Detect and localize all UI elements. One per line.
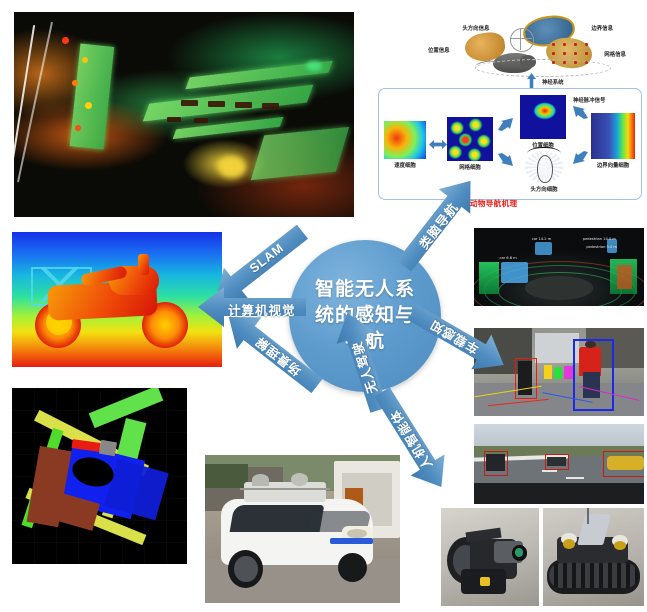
- road-detection-content: [474, 424, 644, 504]
- rat-label-grid: 网格信息: [604, 50, 626, 58]
- head-direction-cell-label: 头方向细胞: [519, 185, 569, 193]
- boundary-vector-cell-image: [591, 113, 635, 159]
- lidar-detection-view: car 14.2 m car 6.8 m pedestrian 14.0 m p…: [474, 228, 644, 306]
- rat-label-place: 位置信息: [428, 46, 450, 54]
- rat-label-boundary: 边界信息: [591, 24, 613, 32]
- navigation-cell-panel: 速度细胞 网格细胞 位置细胞 头方向细胞 边界向量细胞: [378, 88, 642, 200]
- speed-cell-image: [384, 121, 426, 159]
- tracked-robot-platform: [543, 508, 644, 606]
- scene3d-content: [12, 388, 187, 564]
- head-direction-arc: [527, 147, 561, 160]
- rat-ground: [475, 59, 610, 77]
- place-cell-image: [520, 95, 566, 139]
- grid-cell-image: [447, 117, 493, 161]
- grid-to-head-direction-arrow-icon: [497, 153, 515, 172]
- grid-to-place-arrow-icon: [497, 117, 515, 136]
- tracked-robot-content: [543, 508, 644, 606]
- lidar-label-pedestrian-2: pedestrian 9.0 m: [586, 245, 617, 249]
- lidar-point-cloud-map: [14, 12, 354, 217]
- wheeled-robot-content: [441, 508, 539, 606]
- rat-brain-diagram: 头方向信息 边界信息 位置信息 网格信息 神经系统: [428, 6, 643, 90]
- road-vehicle-detection-view: [474, 424, 644, 504]
- semantic-3d-scene: [12, 388, 187, 564]
- compass-cross: [510, 28, 532, 50]
- lidar-label-car-2: car 6.8 m: [500, 256, 517, 260]
- rat-label-nervous-system: 神经系统: [542, 78, 564, 86]
- autonomous-vehicle-content: [205, 455, 400, 603]
- lidar-label-car-1: car 14.2 m: [532, 237, 551, 241]
- figure-canvas: 头方向信息 边界信息 位置信息 网格信息 神经系统 速度细胞 网格细胞 位置细胞: [0, 0, 647, 612]
- speed-cell-label: 速度细胞: [384, 161, 426, 169]
- spike-signal-label: 神经脉冲信号: [573, 96, 635, 104]
- boundary-vector-cell-label: 边界向量细胞: [585, 161, 641, 169]
- lidar-detection-content: car 14.2 m car 6.8 m pedestrian 14.0 m p…: [474, 228, 644, 306]
- speed-to-grid-arrow-icon: [429, 136, 447, 154]
- depth-map-motorcycle: [12, 232, 222, 367]
- lidar-map-content: [14, 12, 354, 217]
- place-to-boundary-arrow-icon: [571, 105, 589, 124]
- lidar-label-pedestrian-1: pedestrian 14.0 m: [583, 237, 616, 241]
- autonomous-test-vehicle: [205, 455, 400, 603]
- rat-label-head-direction: 头方向信息: [462, 24, 489, 32]
- wheeled-robot-platform: [441, 508, 539, 606]
- depth-map-content: [12, 232, 222, 367]
